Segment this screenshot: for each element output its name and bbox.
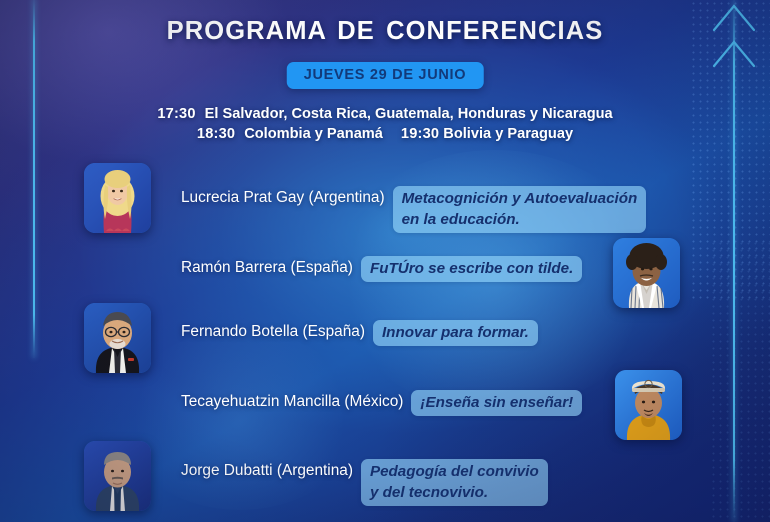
schedule-countries-1: El Salvador, Costa Rica, Guatemala, Hond… [205,106,613,122]
talk-title: Metacognición y Autoevaluación en la edu… [393,186,647,233]
talk-title: FuTÚro se escribe con tilde. [361,256,582,282]
photo-ramon-barrera [613,238,680,308]
vertical-rule-left [33,0,35,358]
speaker-name: Tecayehuatzin Mancilla (México) [181,390,403,413]
schedule-times: 17:30El Salvador, Costa Rica, Guatemala,… [0,104,770,144]
talk-title: Pedagogía del convivio y del tecnovivio. [361,459,548,506]
schedule-line-2: 18:30Colombia y Panamá19:30 Bolivia y Pa… [0,124,770,144]
talk-title: Innovar para formar. [373,320,538,346]
photo-jorge-dubatti [84,441,151,511]
halftone-dot-pattern-lower [710,240,770,522]
speaker-name: Lucrecia Prat Gay (Argentina) [181,186,385,209]
vertical-rule-right [733,0,735,522]
schedule-time-1: 17:30 [157,106,195,122]
date-badge: JUEVES 29 DE JUNIO [287,62,484,89]
speaker-row-4: Tecayehuatzin Mancilla (México) ¡Enseña … [181,390,621,416]
schedule-line-1: 17:30El Salvador, Costa Rica, Guatemala,… [0,104,770,124]
speaker-row-1: Lucrecia Prat Gay (Argentina) Metacognic… [181,186,681,233]
page-title: PROGRAMA DE CONFERENCIAS [0,17,770,46]
speaker-row-2: Ramón Barrera (España) FuTÚro se escribe… [181,256,611,282]
speaker-name: Ramón Barrera (España) [181,256,353,279]
photo-tecayehuatzin-mancilla [615,370,682,440]
speaker-name: Jorge Dubatti (Argentina) [181,459,353,482]
speaker-row-5: Jorge Dubatti (Argentina) Pedagogía del … [181,459,601,506]
schedule-time-2b: 19:30 [401,126,439,142]
photo-lucrecia-prat-gay [84,163,151,233]
schedule-time-2a: 18:30 [197,126,235,142]
speaker-row-3: Fernando Botella (España) Innovar para f… [181,320,611,346]
schedule-countries-2a: Colombia y Panamá [244,126,383,142]
schedule-countries-2b: Bolivia y Paraguay [443,126,573,142]
speaker-name: Fernando Botella (España) [181,320,365,343]
photo-fernando-botella [84,303,151,373]
conference-program-poster: PROGRAMA DE CONFERENCIAS JUEVES 29 DE JU… [0,0,770,522]
talk-title: ¡Enseña sin enseñar! [411,390,582,416]
